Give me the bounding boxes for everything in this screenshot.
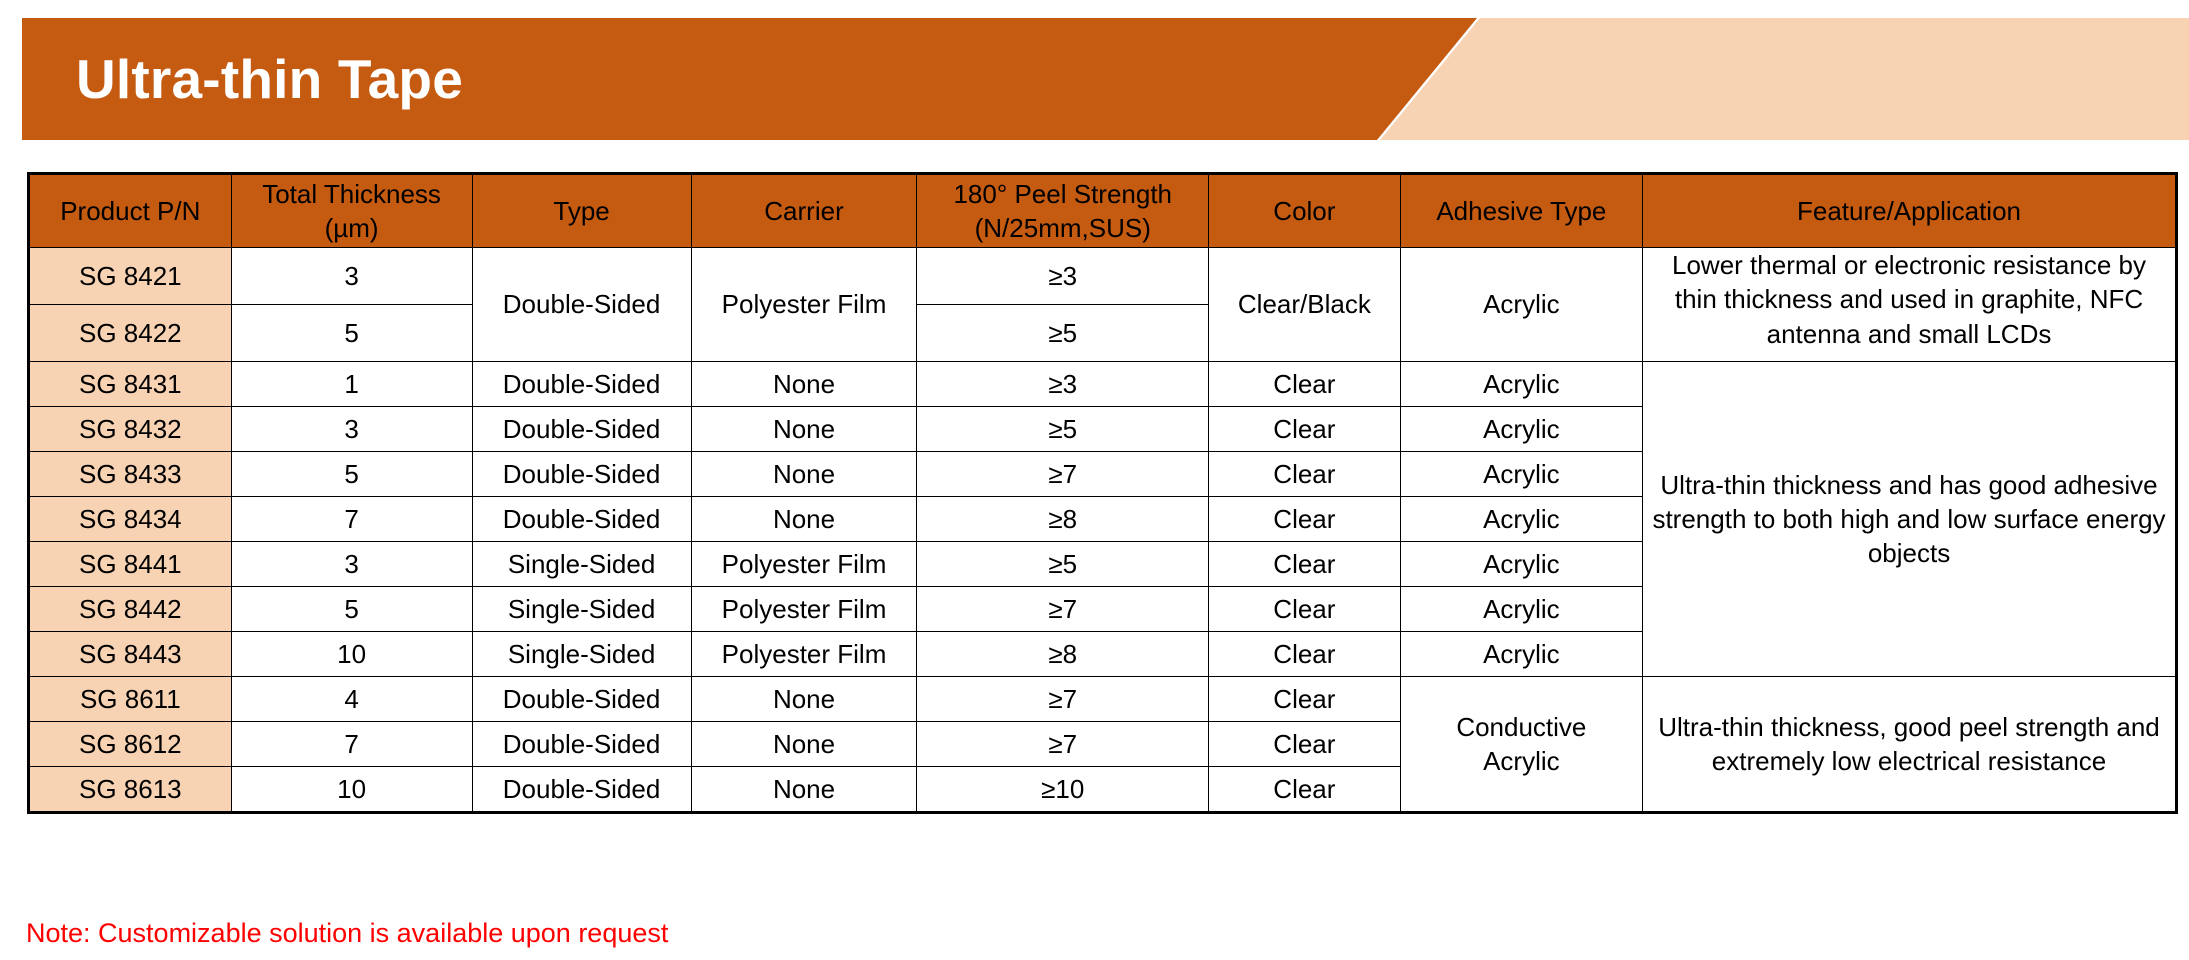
header-row: Product P/N Total Thickness (µm) Type Ca… [29,174,2177,248]
cell-type: Single-Sided [472,587,691,632]
table-header: Product P/N Total Thickness (µm) Type Ca… [29,174,2177,248]
cell-type: Double-Sided [472,362,691,407]
cell-thickness: 7 [231,497,472,542]
cell-peel: ≥7 [917,722,1209,767]
cell-product-pn: SG 8443 [29,632,232,677]
cell-color: Clear [1209,407,1401,452]
table-row: SG 8421 3 Double-Sided Polyester Film ≥3… [29,248,2177,305]
cell-product-pn: SG 8432 [29,407,232,452]
cell-peel: ≥3 [917,248,1209,305]
product-spec-table: Product P/N Total Thickness (µm) Type Ca… [27,172,2178,814]
cell-type: Double-Sided [472,767,691,813]
cell-type: Double-Sided [472,407,691,452]
col-header-feature-application: Feature/Application [1643,174,2177,248]
cell-carrier: Polyester Film [691,632,917,677]
col-header-type-line1: Type [479,194,685,228]
cell-type: Double-Sided [472,452,691,497]
page-title: Ultra-thin Tape [76,52,463,107]
cell-color: Clear [1209,362,1401,407]
cell-adhesive: Acrylic [1400,587,1642,632]
cell-color: Clear [1209,677,1401,722]
page-banner: Ultra-thin Tape [0,18,2189,140]
cell-product-pn: SG 8431 [29,362,232,407]
cell-peel: ≥7 [917,452,1209,497]
col-header-adhesive-type-line1: Adhesive Type [1407,194,1636,228]
cell-product-pn: SG 8433 [29,452,232,497]
col-header-total-thickness-line2: (µm) [238,211,466,245]
cell-thickness: 7 [231,722,472,767]
cell-feature: Lower thermal or electronic resistance b… [1643,248,2177,362]
cell-product-pn: SG 8434 [29,497,232,542]
col-header-color-line1: Color [1215,194,1394,228]
col-header-peel-strength-line2: (N/25mm,SUS) [923,211,1202,245]
cell-color: Clear [1209,497,1401,542]
col-header-peel-strength: 180° Peel Strength (N/25mm,SUS) [917,174,1209,248]
cell-peel: ≥8 [917,632,1209,677]
cell-thickness: 1 [231,362,472,407]
cell-peel: ≥10 [917,767,1209,813]
cell-carrier: Polyester Film [691,587,917,632]
cell-feature: Ultra-thin thickness and has good adhesi… [1643,362,2177,677]
cell-color: Clear/Black [1209,248,1401,362]
col-header-total-thickness: Total Thickness (µm) [231,174,472,248]
cell-peel: ≥5 [917,305,1209,362]
col-header-product-pn: Product P/N [29,174,232,248]
cell-carrier: Polyester Film [691,248,917,362]
cell-adhesive: Acrylic [1400,452,1642,497]
cell-product-pn: SG 8421 [29,248,232,305]
cell-feature: Ultra-thin thickness, good peel strength… [1643,677,2177,813]
col-header-carrier: Carrier [691,174,917,248]
cell-adhesive: Acrylic [1400,362,1642,407]
cell-adhesive: Acrylic [1400,407,1642,452]
cell-adhesive: Conductive Acrylic [1400,677,1642,813]
table-row: SG 8431 1 Double-Sided None ≥3 Clear Acr… [29,362,2177,407]
cell-type: Double-Sided [472,677,691,722]
col-header-total-thickness-line1: Total Thickness [238,177,466,211]
col-header-product-pn-line1: Product P/N [36,194,225,228]
cell-carrier: Polyester Film [691,542,917,587]
footnote-text: Note: Customizable solution is available… [26,918,668,949]
cell-type: Double-Sided [472,722,691,767]
cell-thickness: 3 [231,407,472,452]
col-header-peel-strength-line1: 180° Peel Strength [923,177,1202,211]
cell-product-pn: SG 8611 [29,677,232,722]
cell-type: Single-Sided [472,542,691,587]
cell-thickness: 5 [231,587,472,632]
cell-carrier: None [691,767,917,813]
cell-adhesive-line2: Acrylic [1407,744,1636,778]
cell-product-pn: SG 8422 [29,305,232,362]
cell-thickness: 5 [231,452,472,497]
cell-carrier: None [691,497,917,542]
cell-adhesive: Acrylic [1400,497,1642,542]
banner-accent-shape [1380,18,2189,140]
col-header-carrier-line1: Carrier [698,194,911,228]
col-header-adhesive-type: Adhesive Type [1400,174,1642,248]
cell-carrier: None [691,407,917,452]
cell-product-pn: SG 8442 [29,587,232,632]
spec-table-container: Product P/N Total Thickness (µm) Type Ca… [27,172,2178,814]
cell-thickness: 10 [231,632,472,677]
cell-color: Clear [1209,632,1401,677]
table-body: SG 8421 3 Double-Sided Polyester Film ≥3… [29,248,2177,813]
col-header-type: Type [472,174,691,248]
cell-peel: ≥7 [917,587,1209,632]
col-header-color: Color [1209,174,1401,248]
cell-carrier: None [691,452,917,497]
cell-peel: ≥8 [917,497,1209,542]
cell-thickness: 4 [231,677,472,722]
cell-peel: ≥5 [917,407,1209,452]
cell-carrier: None [691,362,917,407]
cell-type: Single-Sided [472,632,691,677]
cell-adhesive-line1: Conductive [1407,710,1636,744]
cell-product-pn: SG 8612 [29,722,232,767]
cell-product-pn: SG 8441 [29,542,232,587]
cell-color: Clear [1209,722,1401,767]
cell-thickness: 10 [231,767,472,813]
cell-peel: ≥5 [917,542,1209,587]
cell-carrier: None [691,722,917,767]
cell-color: Clear [1209,767,1401,813]
cell-color: Clear [1209,587,1401,632]
cell-peel: ≥3 [917,362,1209,407]
cell-adhesive: Acrylic [1400,632,1642,677]
cell-product-pn: SG 8613 [29,767,232,813]
cell-type: Double-Sided [472,497,691,542]
banner-primary-shape: Ultra-thin Tape [22,18,1477,140]
cell-adhesive: Acrylic [1400,248,1642,362]
cell-type: Double-Sided [472,248,691,362]
cell-peel: ≥7 [917,677,1209,722]
cell-color: Clear [1209,542,1401,587]
col-header-feature-application-line1: Feature/Application [1649,194,2169,228]
table-row: SG 8611 4 Double-Sided None ≥7 Clear Con… [29,677,2177,722]
cell-thickness: 5 [231,305,472,362]
cell-adhesive: Acrylic [1400,542,1642,587]
cell-thickness: 3 [231,542,472,587]
cell-carrier: None [691,677,917,722]
cell-color: Clear [1209,452,1401,497]
cell-thickness: 3 [231,248,472,305]
